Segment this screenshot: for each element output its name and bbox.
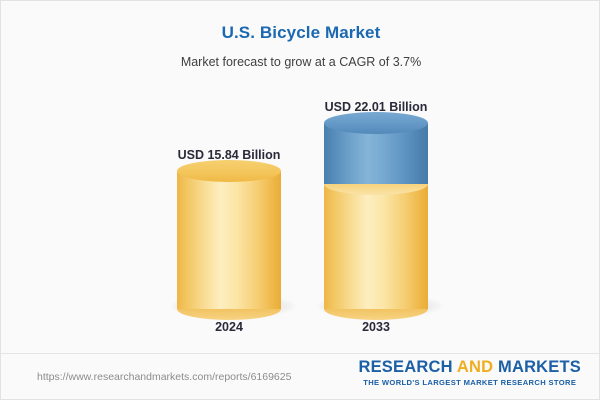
logo-word-and: AND (457, 358, 493, 376)
bar-top-ellipse-2024 (177, 160, 281, 182)
logo-word-research: RESEARCH (358, 358, 456, 376)
source-url-link[interactable]: https://www.researchandmarkets.com/repor… (37, 371, 291, 383)
research-and-markets-logo[interactable]: RESEARCH AND MARKETS THE WORLD'S LARGEST… (358, 359, 581, 387)
logo-word-markets: MARKETS (493, 358, 581, 376)
footer-divider (1, 353, 600, 354)
bar-top-ellipse-2033 (324, 112, 428, 134)
logo-wordmark: RESEARCH AND MARKETS (358, 359, 581, 376)
chart-plot-area: USD 15.84 Billion 2024 USD 22.01 Billion… (1, 1, 600, 353)
bar-segment-base-2033[interactable] (324, 184, 428, 309)
bar-body-2024[interactable] (177, 171, 281, 309)
bar-category-label-2033: 2033 (276, 320, 476, 334)
logo-tagline: THE WORLD'S LARGEST MARKET RESEARCH STOR… (358, 378, 581, 387)
chart-card: U.S. Bicycle Market Market forecast to g… (0, 0, 600, 400)
